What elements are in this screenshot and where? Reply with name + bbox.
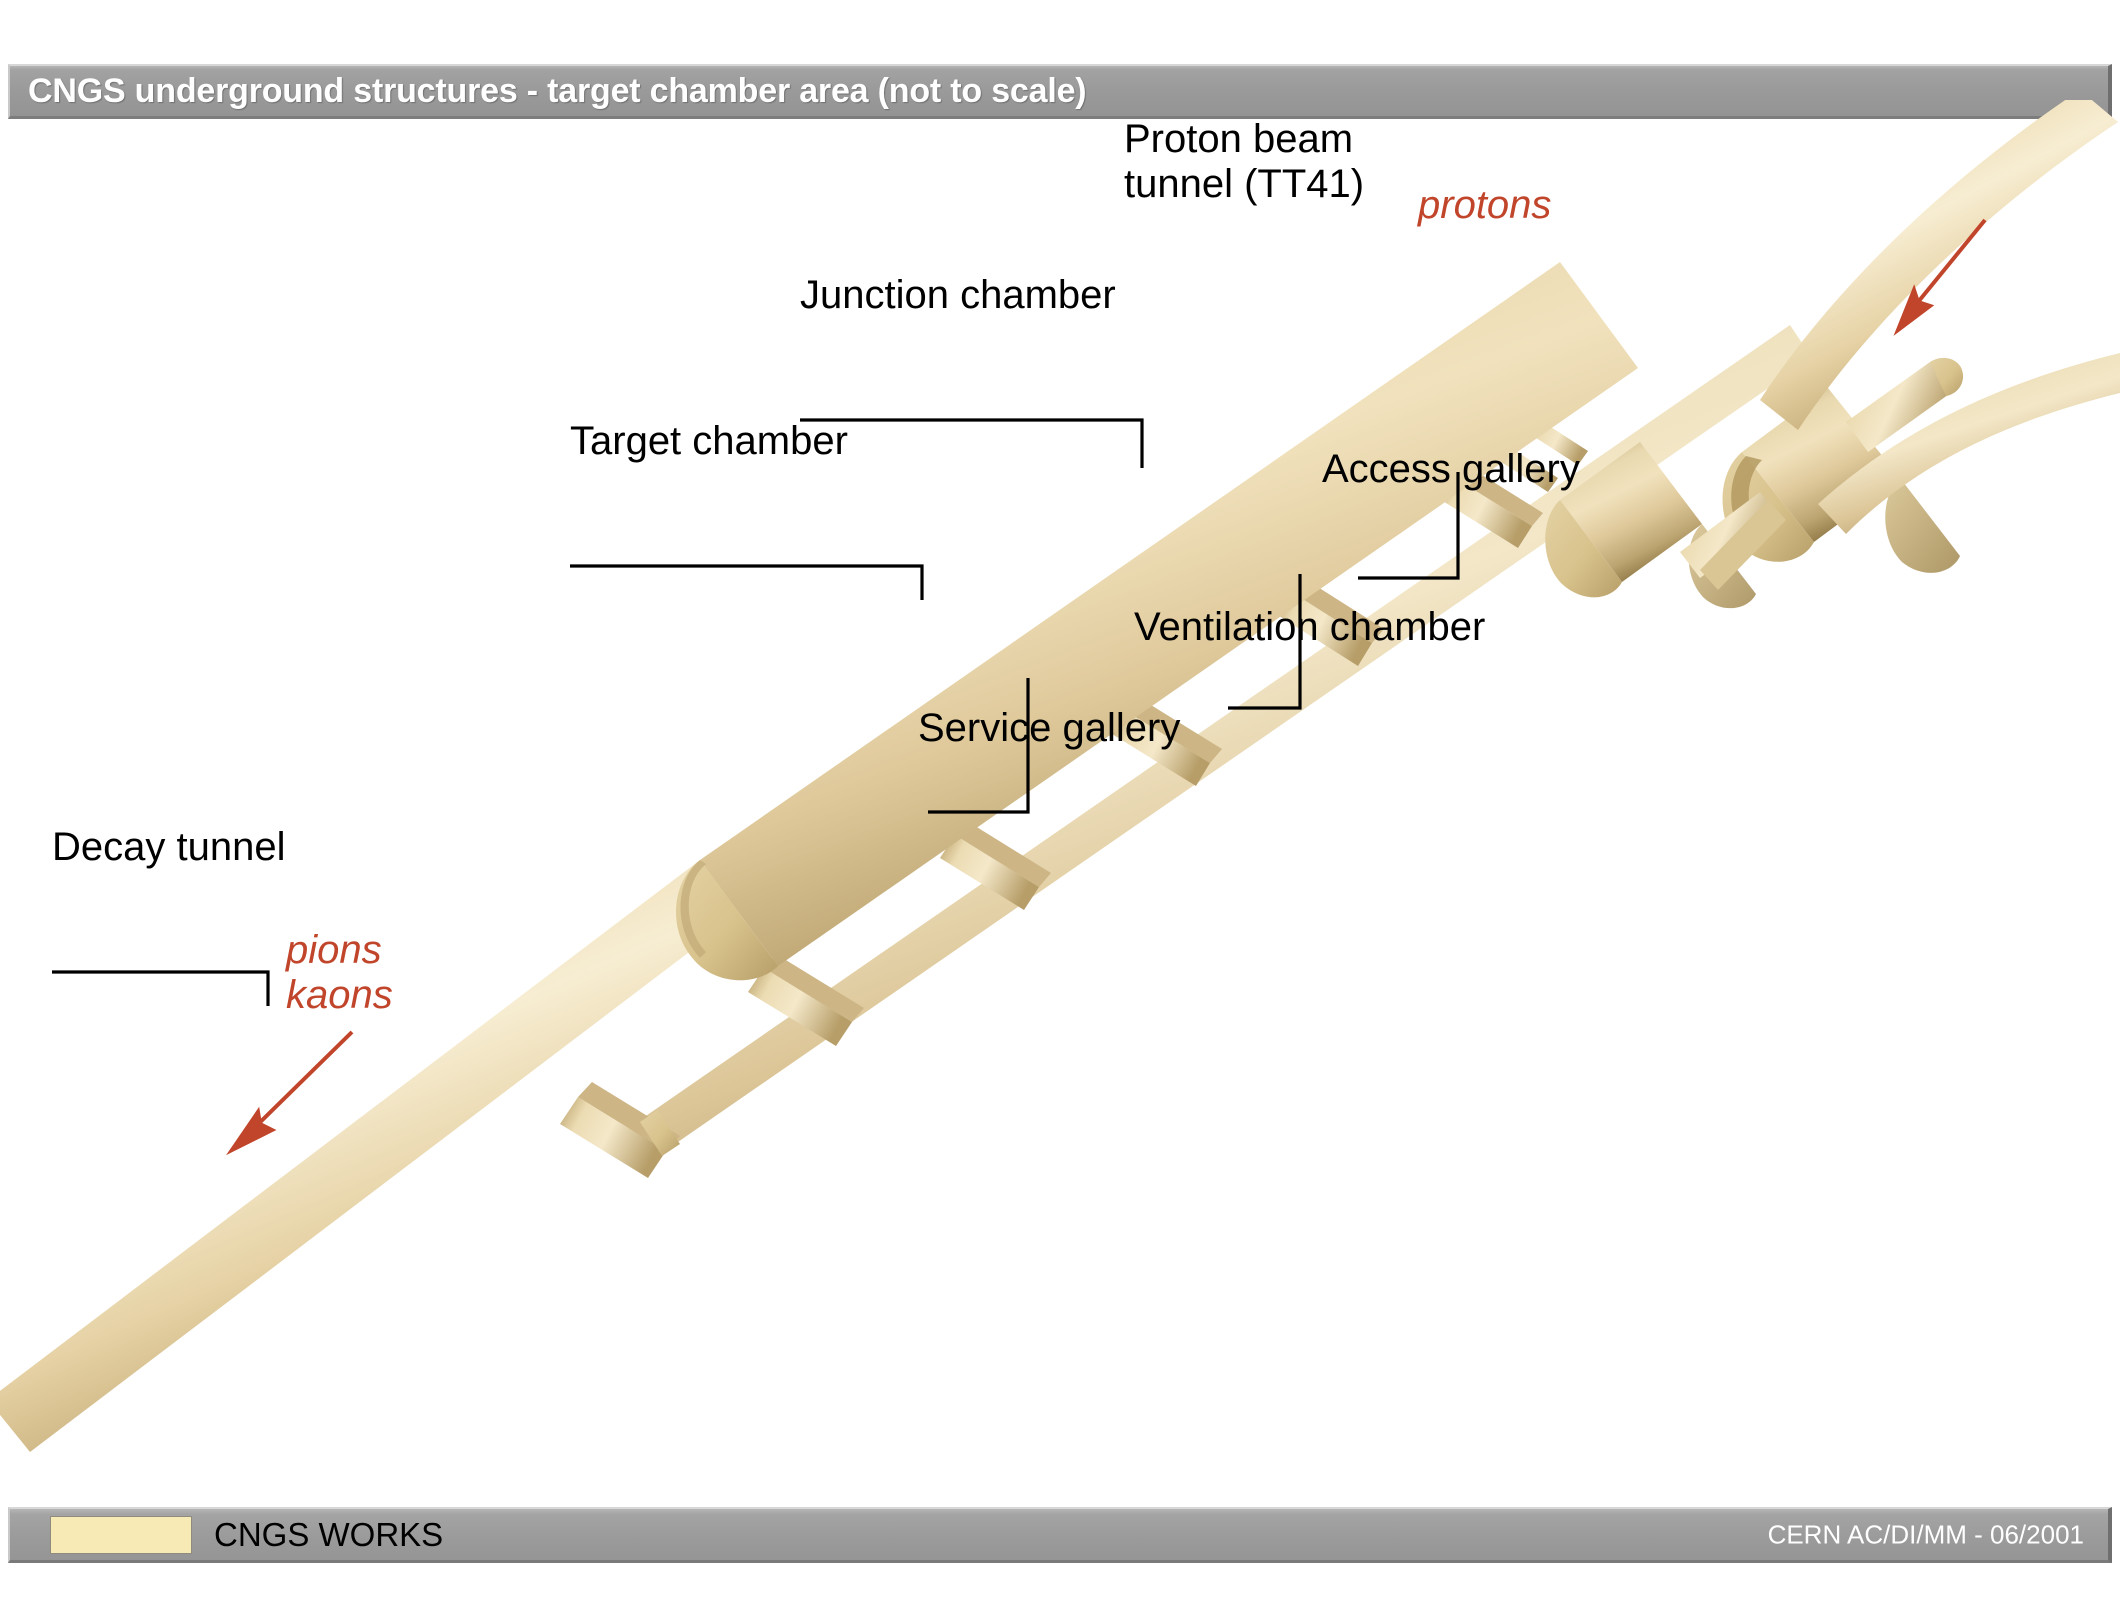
label-ventilation-chamber: Ventilation chamber bbox=[1134, 605, 1485, 650]
label-target-chamber: Target chamber bbox=[570, 419, 848, 464]
label-access-gallery: Access gallery bbox=[1322, 447, 1580, 492]
label-proton-beam-tunnel-line2: tunnel (TT41) bbox=[1124, 162, 1364, 207]
label-junction-chamber: Junction chamber bbox=[800, 273, 1116, 318]
annotation-pions: pions bbox=[286, 928, 393, 973]
label-service-gallery: Service gallery bbox=[918, 706, 1180, 751]
annotation-kaons: kaons bbox=[286, 973, 393, 1018]
annotation-protons: protons bbox=[1418, 183, 1551, 228]
label-decay-tunnel: Decay tunnel bbox=[52, 825, 285, 870]
cross-struts bbox=[560, 420, 1588, 1178]
legend-color-swatch bbox=[50, 1516, 192, 1554]
label-proton-beam-tunnel: Proton beam tunnel (TT41) bbox=[1124, 117, 1364, 207]
credit-text: CERN AC/DI/MM - 06/2001 bbox=[1768, 1519, 2084, 1550]
annotation-pions-kaons: pions kaons bbox=[286, 928, 393, 1018]
label-proton-beam-tunnel-line1: Proton beam bbox=[1124, 117, 1364, 162]
legend-label: CNGS WORKS bbox=[214, 1516, 443, 1554]
footer-bar: CNGS WORKS CERN AC/DI/MM - 06/2001 bbox=[8, 1507, 2112, 1563]
